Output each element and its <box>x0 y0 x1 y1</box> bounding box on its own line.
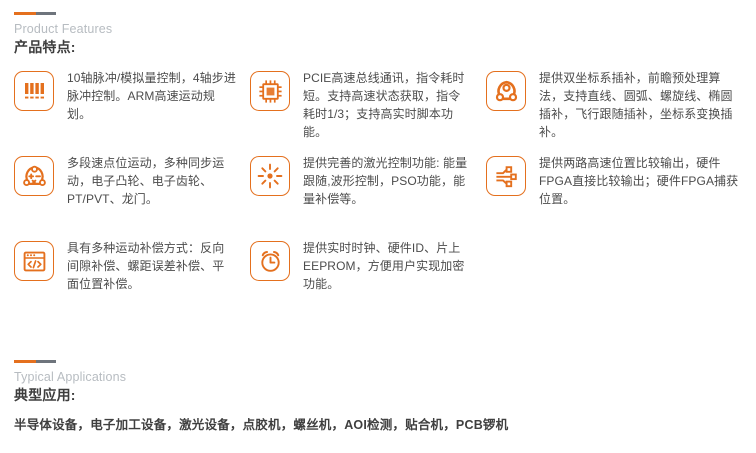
feature-item: 10轴脉冲/模拟量控制，4轴步进脉冲控制。ARM高速运动规划。 <box>14 69 250 154</box>
product-features-title-en: Product Features <box>14 22 756 37</box>
code-window-icon <box>14 241 54 281</box>
alarm-clock-icon <box>250 241 290 281</box>
section-divider <box>14 360 56 363</box>
features-grid: 10轴脉冲/模拟量控制，4轴步进脉冲控制。ARM高速运动规划。 <box>14 69 756 324</box>
three-node-circles-icon <box>486 71 526 111</box>
node-math-network-icon <box>14 156 54 196</box>
typical-applications-heading: Typical Applications 典型应用: <box>14 360 508 405</box>
feature-item: 具有多种运动补偿方式：反向间隙补偿、螺距误差补偿、平面位置补偿。 <box>14 239 250 324</box>
typical-applications-title-cn: 典型应用: <box>14 386 508 405</box>
feature-item-text: 多段速点位运动，多种同步运动，电子凸轮、电子齿轮、PT/PVT、龙门。 <box>67 154 236 208</box>
feature-item-text: 提供双坐标系插补，前瞻预处理算法，支持直线、圆弧、螺旋线、椭圆插补，飞行跟随插补… <box>539 69 742 141</box>
typical-applications-list: 半导体设备，电子加工设备，激光设备，点胶机，螺丝机，AOI检测，贴合机，PCB锣… <box>14 416 508 434</box>
divider-gray-segment <box>36 12 56 15</box>
product-features-title-cn: 产品特点: <box>14 38 756 57</box>
feature-item: 提供完善的激光控制功能: 能量跟随,波形控制，PSO功能，能量补偿等。 <box>250 154 486 239</box>
feature-item-text: 提供实时时钟、硬件ID、片上EEPROM，方便用户实现加密功能。 <box>303 239 472 293</box>
pulse-bars-icon <box>14 71 54 111</box>
laser-burst-icon <box>250 156 290 196</box>
feature-item: 提供双坐标系插补，前瞻预处理算法，支持直线、圆弧、螺旋线、椭圆插补，飞行跟随插补… <box>486 69 756 154</box>
product-features-page: Product Features 产品特点: 10轴脉冲/模拟量控制，4轴步进脉… <box>0 0 756 453</box>
feature-item: 提供两路高速位置比较输出，硬件FPGA直接比较输出；硬件FPGA捕获位置。 <box>486 154 756 239</box>
feature-item: 提供实时时钟、硬件ID、片上EEPROM，方便用户实现加密功能。 <box>250 239 486 324</box>
divider-orange-segment <box>14 12 36 15</box>
feature-item-text: 10轴脉冲/模拟量控制，4轴步进脉冲控制。ARM高速运动规划。 <box>67 69 236 123</box>
feature-item-text: 具有多种运动补偿方式：反向间隙补偿、螺距误差补偿、平面位置补偿。 <box>67 239 236 293</box>
divider-orange-segment <box>14 360 36 363</box>
divider-gray-segment <box>36 360 56 363</box>
feature-item: 多段速点位运动，多种同步运动，电子凸轮、电子齿轮、PT/PVT、龙门。 <box>14 154 250 239</box>
typical-applications-section: Typical Applications 典型应用: 半导体设备，电子加工设备，… <box>14 360 508 434</box>
feature-item-text: PCIE高速总线通讯，指令耗时短。支持高速状态获取，指令耗时1/3；支持高实时脚… <box>303 69 472 141</box>
cpu-chip-icon <box>250 71 290 111</box>
typical-applications-title-en: Typical Applications <box>14 370 508 385</box>
feature-item: PCIE高速总线通讯，指令耗时短。支持高速状态获取，指令耗时1/3；支持高实时脚… <box>250 69 486 154</box>
feature-item-text: 提供两路高速位置比较输出，硬件FPGA直接比较输出；硬件FPGA捕获位置。 <box>539 154 742 208</box>
product-features-heading: Product Features 产品特点: <box>14 0 756 57</box>
section-divider <box>14 12 56 15</box>
circuit-branch-icon <box>486 156 526 196</box>
feature-item-text: 提供完善的激光控制功能: 能量跟随,波形控制，PSO功能，能量补偿等。 <box>303 154 472 208</box>
